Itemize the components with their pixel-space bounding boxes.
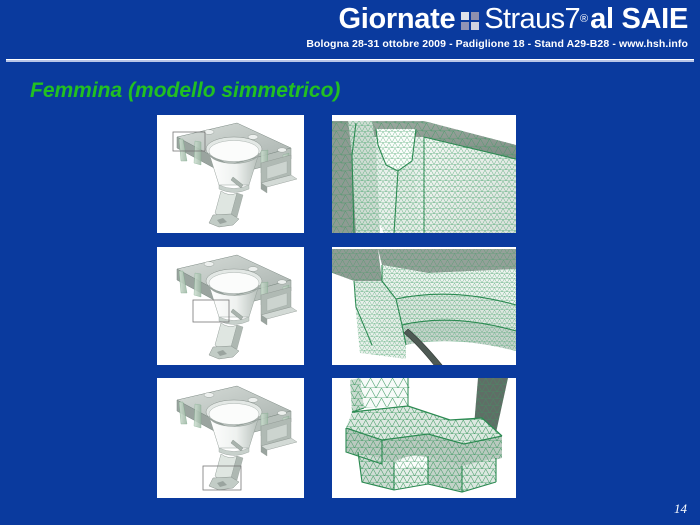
page-number: 14 [674, 501, 687, 517]
figure-detail-bottom [332, 378, 516, 498]
figure-overview-top [157, 115, 304, 233]
figure-detail-middle [332, 247, 516, 365]
cad-model-top [157, 115, 304, 233]
figure-overview-middle [157, 247, 304, 365]
cad-model-bottom [157, 378, 304, 498]
cad-model-middle [157, 247, 304, 365]
figure-grid [0, 0, 700, 525]
figure-overview-bottom [157, 378, 304, 498]
fe-mesh-bottom [332, 378, 516, 498]
figure-detail-top [332, 115, 516, 233]
fe-mesh-top [332, 115, 516, 233]
fe-mesh-middle [332, 247, 516, 365]
